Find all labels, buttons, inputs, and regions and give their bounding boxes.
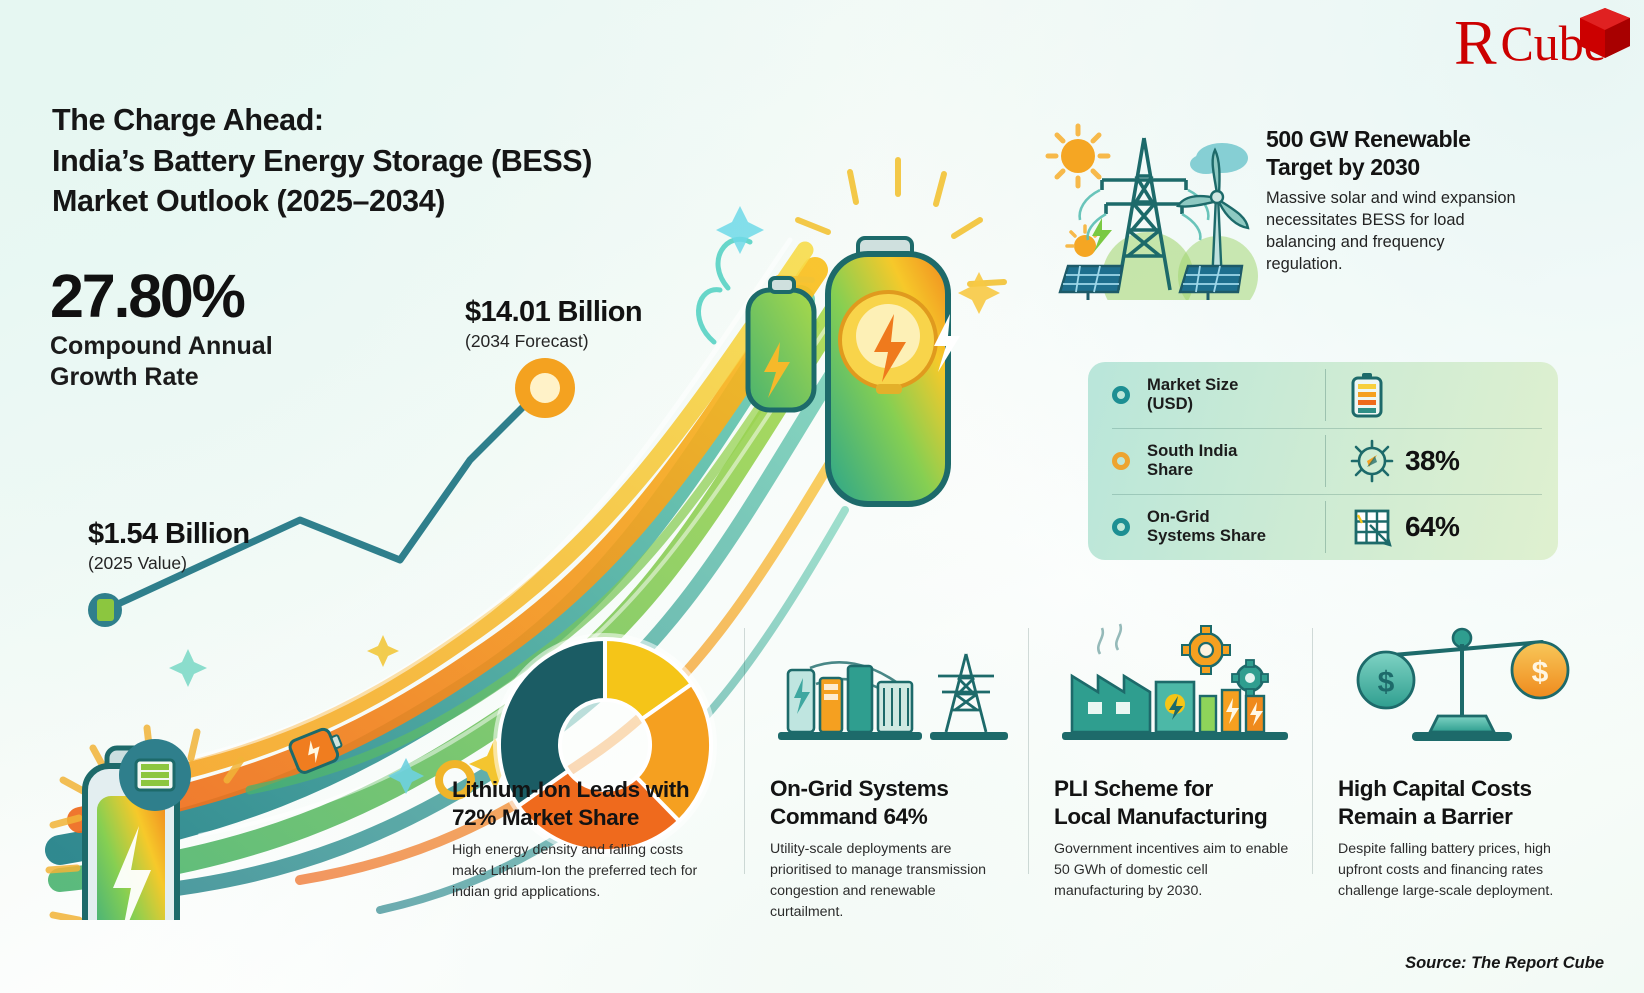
card-on-grid-title-line-1: On-Grid Systems <box>770 776 949 801</box>
card-capital-body: Despite falling battery prices, high upf… <box>1338 839 1578 902</box>
bottom-cards-row: On-Grid Systems Command 64% Utility-scal… <box>744 620 1596 920</box>
card-pli-title: PLI Scheme for Local Manufacturing <box>1054 775 1294 830</box>
metric-label-line-1: South India <box>1147 441 1237 460</box>
card-lithium-ion: Lithium-Ion Leads with 72% Market Share … <box>452 776 714 903</box>
compass-icon <box>1350 439 1394 483</box>
source-attribution: Source: The Report Cube <box>1405 954 1604 973</box>
metric-value-cell-on-grid: 64% <box>1325 501 1459 553</box>
card-pli-scheme: PLI Scheme for Local Manufacturing Gover… <box>1028 620 1312 920</box>
metric-label-line-2: (USD) <box>1147 394 1193 413</box>
balance-scale-icon: $ $ <box>1338 620 1588 768</box>
svg-text:$: $ <box>1378 666 1395 699</box>
callout-value-2025: $1.54 Billion (2025 Value) <box>88 518 249 574</box>
sun-icon <box>1048 126 1108 186</box>
metric-row-south-india: South India Share 38% <box>1088 428 1558 494</box>
svg-text:$: $ <box>1532 656 1549 689</box>
bullet-dot-on-grid <box>1112 518 1130 536</box>
battery-indicator-icon <box>119 739 191 811</box>
callout-2025-value: $1.54 Billion <box>88 518 249 551</box>
grid-substation-icon <box>770 620 1020 768</box>
callout-2034-value: $14.01 Billion <box>465 296 642 329</box>
card-capital-title-line-1: High Capital Costs <box>1338 776 1532 801</box>
metric-value-cell-market-size <box>1325 369 1395 421</box>
card-capital-title-line-2: Remain a Barrier <box>1338 804 1513 829</box>
renewable-title-line-1: 500 GW Renewable <box>1266 126 1471 152</box>
card-lithium-ion-title-line-1: Lithium-Ion Leads with <box>452 777 689 802</box>
card-lithium-ion-title-line-2: 72% Market Share <box>452 805 639 830</box>
metric-value-on-grid: 64% <box>1405 511 1459 543</box>
renewable-target-body: Massive solar and wind expansion necessi… <box>1266 188 1524 275</box>
callout-2034-caption: (2034 Forecast) <box>465 331 642 352</box>
metric-label-on-grid: On-Grid Systems Share <box>1147 508 1315 546</box>
metric-row-on-grid: On-Grid Systems Share 64% <box>1088 494 1558 560</box>
metric-row-market-size: Market Size (USD) <box>1088 362 1558 428</box>
metric-label-line-2: Share <box>1147 460 1193 479</box>
battery-icon <box>1350 372 1384 418</box>
metric-label-line-2: Systems Share <box>1147 526 1266 545</box>
card-on-grid-title-line-2: Command 64% <box>770 804 927 829</box>
metric-label-line-1: Market Size <box>1147 375 1238 394</box>
renewable-target-block: 500 GW Renewable Target by 2030 Massive … <box>1266 126 1524 275</box>
factory-icon <box>1054 620 1304 768</box>
callout-value-2034: $14.01 Billion (2034 Forecast) <box>465 296 642 352</box>
card-on-grid-body: Utility-scale deployments are prioritise… <box>770 839 1010 923</box>
card-capital-title: High Capital Costs Remain a Barrier <box>1338 775 1578 830</box>
card-capital-costs: $ $ High Capital Costs Remain a Barrier … <box>1312 620 1596 920</box>
card-on-grid-title: On-Grid Systems Command 64% <box>770 775 1010 830</box>
renewable-target-title: 500 GW Renewable Target by 2030 <box>1266 126 1524 181</box>
gear-icon <box>1182 626 1230 674</box>
bullet-dot-market-size <box>1112 386 1130 404</box>
cube-icon <box>1578 6 1632 64</box>
infographic-canvas: Я Cube The Charge Ahead: India’s Battery… <box>0 0 1644 993</box>
logo-r-glyph: Я <box>1454 14 1497 72</box>
card-lithium-ion-body: High energy density and falling costs ma… <box>452 840 714 903</box>
renewable-energy-illustration <box>1040 118 1262 300</box>
card-pli-title-line-2: Local Manufacturing <box>1054 804 1267 829</box>
renewable-title-line-2: Target by 2030 <box>1266 154 1420 180</box>
card-on-grid: On-Grid Systems Command 64% Utility-scal… <box>744 620 1028 920</box>
brand-logo: Я Cube <box>1454 14 1606 72</box>
metric-value-south-india: 38% <box>1405 445 1459 477</box>
sun-small-icon <box>1067 226 1099 257</box>
card-pli-body: Government incentives aim to enable 50 G… <box>1054 839 1294 902</box>
metric-label-south-india: South India Share <box>1147 442 1315 480</box>
card-lithium-ion-title: Lithium-Ion Leads with 72% Market Share <box>452 776 714 831</box>
metric-label-line-1: On-Grid <box>1147 507 1210 526</box>
metric-label-market-size: Market Size (USD) <box>1147 376 1315 414</box>
bullet-dot-south-india <box>1112 452 1130 470</box>
callout-2025-caption: (2025 Value) <box>88 553 249 574</box>
metric-value-cell-south-india: 38% <box>1325 435 1459 487</box>
key-metrics-panel: Market Size (USD) South India Share <box>1088 362 1558 560</box>
card-pli-title-line-1: PLI Scheme for <box>1054 776 1213 801</box>
grid-icon <box>1350 505 1394 549</box>
